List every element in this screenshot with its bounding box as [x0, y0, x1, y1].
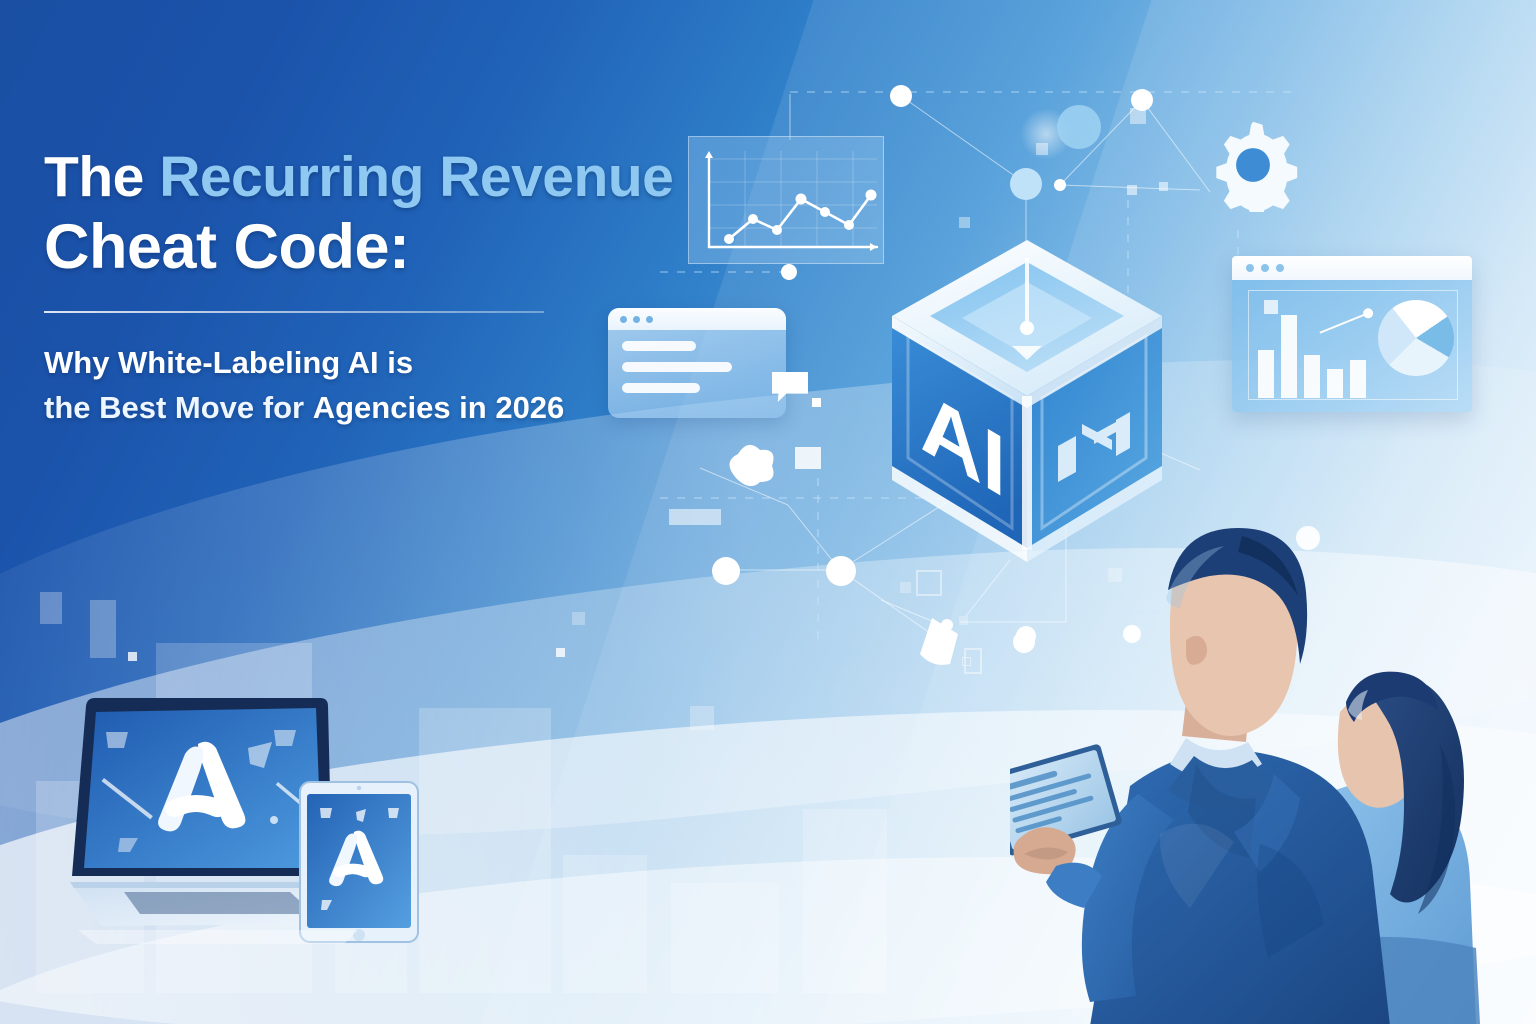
title-line-2: Cheat Code: — [44, 215, 704, 281]
pie-chart — [1378, 300, 1454, 376]
decor-square — [1127, 185, 1137, 195]
line-chart-panel[interactable] — [688, 136, 884, 264]
decor-square — [90, 600, 116, 658]
decor-square — [40, 592, 62, 624]
bar-chart — [1258, 312, 1366, 398]
decor-square — [795, 447, 821, 469]
decor-square — [572, 612, 585, 625]
decor-bar — [669, 509, 721, 525]
subtitle-line-1: Why White-Labeling AI is — [44, 341, 704, 386]
window-dot-icon — [1276, 264, 1284, 272]
decor-square — [690, 706, 714, 730]
hero-banner: The Recurring Revenue Cheat Code: Why Wh… — [0, 0, 1536, 1024]
people-graphic — [1010, 494, 1536, 1024]
gear-icon[interactable] — [1206, 118, 1300, 212]
bar — [1281, 315, 1297, 398]
subtitle-strong-part: Agencies in 2026 — [313, 390, 565, 425]
decor-square — [1159, 182, 1168, 191]
decor-square — [556, 648, 565, 657]
decor-square-outline — [916, 570, 942, 596]
person-man — [1010, 528, 1390, 1024]
decor-square — [128, 652, 137, 661]
bar — [1304, 355, 1320, 398]
window-dot-icon — [1261, 264, 1269, 272]
decor-glow — [1020, 108, 1072, 160]
decor-square — [1130, 108, 1146, 124]
decor-square — [812, 398, 821, 407]
bar — [1258, 350, 1274, 398]
line-chart-svg — [689, 137, 885, 265]
title-divider — [44, 311, 544, 313]
title-part-the: The — [44, 145, 159, 209]
decor-square-outline — [962, 657, 971, 666]
headline-block: The Recurring Revenue Cheat Code: Why Wh… — [44, 148, 704, 431]
title-line-1: The Recurring Revenue — [44, 148, 704, 207]
dashboard-titlebar — [1232, 256, 1472, 280]
decor-square — [900, 582, 911, 593]
bar — [1327, 369, 1343, 398]
title-part-recurring-revenue: Recurring Revenue — [159, 145, 673, 209]
bar — [1350, 360, 1366, 398]
devices-graphic — [58, 686, 498, 946]
window-dot-icon — [1246, 264, 1254, 272]
decor-square — [959, 217, 970, 228]
subtitle-line-2: the Best Move for Agencies in 2026 — [44, 386, 704, 431]
subtitle-soft-part: the Best Move for — [44, 390, 313, 425]
decor-square — [959, 616, 968, 625]
analytics-dashboard-panel[interactable] — [1232, 256, 1472, 412]
